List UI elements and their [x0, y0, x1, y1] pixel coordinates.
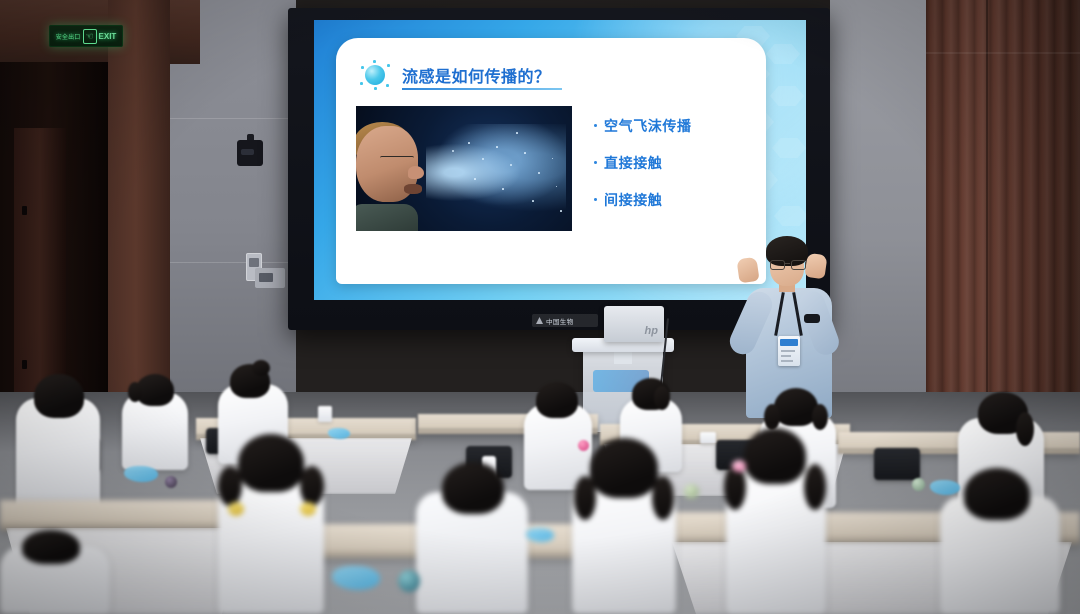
slide-bullet-item: 空气飞沫传播: [594, 116, 754, 136]
slide-bullet-text: 空气飞沫传播: [604, 116, 692, 136]
student-front-3: [726, 462, 826, 614]
presenter-left-hand: [736, 257, 759, 284]
desk-ball-pink: [578, 440, 589, 451]
student-front-1: [218, 470, 324, 614]
blue-glove: [526, 528, 554, 542]
desk-ball-olive: [684, 484, 699, 499]
display-brand-logo: 中国生物: [532, 314, 598, 327]
desk-front-left: [0, 500, 250, 530]
desk-ball: [165, 476, 177, 488]
slide-bullet-item: 间接接触: [594, 190, 754, 210]
desk-cup: [700, 432, 716, 444]
presenter-right-hand: [804, 253, 827, 280]
exit-sign-left-zh: 安全出口: [56, 32, 81, 41]
wristwatch-icon: [804, 314, 820, 323]
blue-glove: [124, 466, 158, 482]
bullet-dot-icon: [594, 161, 597, 164]
sneezing-person-figure: [356, 126, 428, 231]
desk-ball-green: [912, 478, 925, 491]
doorway: [0, 62, 108, 392]
exit-sign-left: 安全出口 ☜ EXIT: [49, 25, 123, 47]
slide-bullet-text: 间接接触: [604, 190, 662, 210]
hp-logo-text: hp: [645, 325, 658, 337]
right-wood-wall: [926, 0, 1080, 440]
slide-title: 流感是如何传播的？: [402, 63, 551, 87]
student-front-6: [0, 546, 110, 614]
student-front-5: [940, 496, 1060, 614]
student-back-2: [122, 392, 188, 470]
slide-bullet-item: 直接接触: [594, 153, 754, 173]
desk-cup: [318, 406, 332, 422]
student-front-2: [572, 476, 676, 614]
slide-bullet-text: 直接接触: [604, 153, 662, 173]
bullet-dot-icon: [594, 198, 597, 201]
classroom-scene: 安全出口 ☜ EXIT ← ☜: [0, 0, 1080, 614]
student-back-1: [16, 398, 100, 510]
blue-glove: [328, 428, 350, 439]
triangle-mark-icon: [536, 317, 543, 324]
slide-surface: 流感是如何传播的？: [314, 20, 806, 300]
podium-stem: [614, 350, 632, 364]
sneezing-man-photo: [356, 106, 572, 231]
virus-cell-icon: [360, 60, 390, 90]
chair: [874, 448, 920, 480]
bullet-dot-icon: [594, 124, 597, 127]
glasses-icon: [770, 260, 804, 268]
security-camera-icon: [237, 140, 263, 166]
desk-ball-teal: [398, 570, 420, 592]
slide-bullet-list: 空气飞沫传播 直接接触 间接接触: [594, 116, 754, 227]
blue-glove: [930, 480, 960, 495]
hp-laptop[interactable]: hp: [604, 306, 664, 342]
slide-content-card: 流感是如何传播的？: [336, 38, 766, 284]
running-man-icon: ☜: [83, 29, 97, 44]
student-front-4: [416, 492, 528, 614]
display-brand-text: 中国生物: [546, 316, 574, 326]
id-badge: [778, 336, 800, 366]
wall-switch-panel[interactable]: [255, 268, 285, 288]
slide-title-underline: [402, 88, 562, 90]
exit-sign-left-en: EXIT: [99, 32, 117, 41]
